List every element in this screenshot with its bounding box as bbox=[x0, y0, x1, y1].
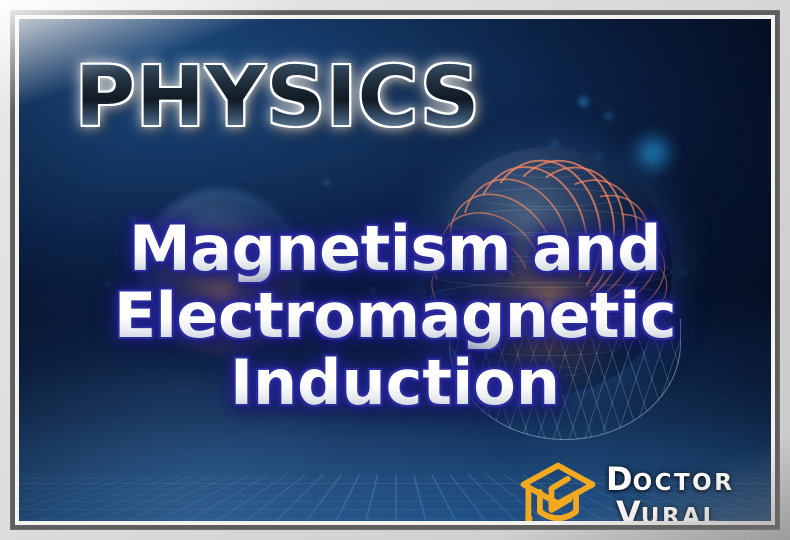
wordmark-vural: VURAL bbox=[616, 497, 734, 521]
poster-canvas: PHYSICS Magnetism and Electromagnetic In… bbox=[19, 19, 771, 521]
brand-wordmark: DOCTOR VURAL bbox=[606, 463, 734, 521]
brand-logo: DOCTOR VURAL bbox=[516, 456, 771, 521]
picture-frame: PHYSICS Magnetism and Electromagnetic In… bbox=[0, 0, 790, 540]
wordmark-doctor: DOCTOR bbox=[606, 463, 734, 495]
title-line-2: Electromagnetic bbox=[19, 282, 771, 349]
kicker-physics: PHYSICS bbox=[75, 57, 480, 139]
title-line-1: Magnetism and bbox=[19, 215, 771, 282]
poster-content: PHYSICS Magnetism and Electromagnetic In… bbox=[19, 19, 771, 521]
frame-bevel: PHYSICS Magnetism and Electromagnetic In… bbox=[10, 10, 780, 530]
poster-title: Magnetism and Electromagnetic Induction bbox=[19, 215, 771, 416]
graduation-cap-icon bbox=[516, 459, 600, 521]
title-line-3: Induction bbox=[19, 349, 771, 416]
frame-matte: PHYSICS Magnetism and Electromagnetic In… bbox=[15, 15, 775, 525]
